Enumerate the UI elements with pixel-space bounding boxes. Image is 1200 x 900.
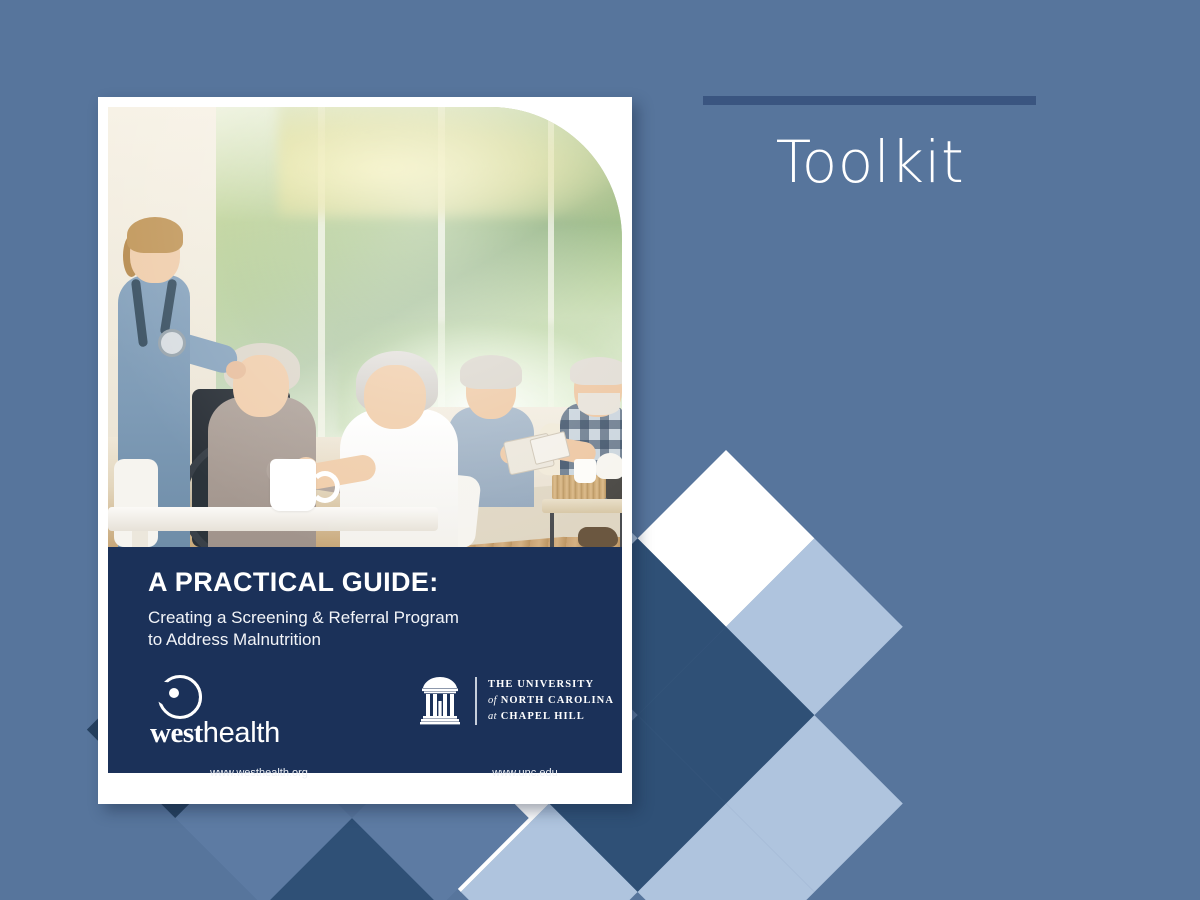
westhealth-wordmark: westhealth <box>150 719 330 748</box>
document-subtitle: Creating a Screening & Referral Program … <box>148 607 568 652</box>
right-panel: Toolkit <box>640 0 1200 430</box>
unc-at: at <box>488 711 497 722</box>
unc-url[interactable]: www.unc.edu <box>430 767 620 779</box>
unc-of: of <box>488 695 497 706</box>
unc-logo-divider <box>475 677 477 725</box>
diamond-tile <box>638 804 815 900</box>
crescent-dot <box>169 688 179 698</box>
page-title: Toolkit <box>640 132 1100 193</box>
unc-wordmark-line-1: THE UNIVERSITY <box>488 677 614 693</box>
unc-chapel-hill: CHAPEL HILL <box>501 711 585 722</box>
unc-logo[interactable]: THE UNIVERSITY of NORTH CAROLINA at CHAP… <box>420 675 620 727</box>
unc-wordmark-line-2: of NORTH CAROLINA <box>488 693 614 709</box>
diamond-tile <box>638 627 815 804</box>
decorative-rule <box>703 96 1036 105</box>
document-title: A PRACTICAL GUIDE: <box>148 567 439 598</box>
unc-logo-row: THE UNIVERSITY of NORTH CAROLINA at CHAP… <box>420 675 620 727</box>
westhealth-logo[interactable]: westhealth www.westhealth.org <box>150 675 330 748</box>
unc-wordmark: THE UNIVERSITY of NORTH CAROLINA at CHAP… <box>488 677 614 725</box>
diamond-tile <box>726 715 903 892</box>
document-subtitle-line-2: to Address Malnutrition <box>148 629 568 651</box>
slide-canvas: Toolkit <box>0 0 1200 900</box>
diamond-tile <box>461 804 638 900</box>
unc-wordmark-line-3: at CHAPEL HILL <box>488 709 614 725</box>
document-cover-card[interactable]: A PRACTICAL GUIDE: Creating a Screening … <box>98 97 632 804</box>
westhealth-wordmark-bold: west <box>150 717 203 749</box>
old-well-rotunda-icon <box>420 675 460 725</box>
document-inner: A PRACTICAL GUIDE: Creating a Screening … <box>108 107 622 794</box>
westhealth-url[interactable]: www.westhealth.org <box>164 767 354 779</box>
diamond-tile <box>726 538 903 715</box>
cover-title-block: A PRACTICAL GUIDE: Creating a Screening … <box>108 547 622 773</box>
photo-light-overlay <box>108 107 622 547</box>
westhealth-circle-crescent-icon <box>158 675 196 713</box>
document-subtitle-line-1: Creating a Screening & Referral Program <box>148 607 568 629</box>
diamond-tile <box>264 818 441 900</box>
unc-north-carolina: NORTH CAROLINA <box>501 695 614 706</box>
diamond-tile <box>638 450 815 627</box>
cover-photo <box>108 107 622 547</box>
westhealth-wordmark-light: health <box>203 717 280 749</box>
